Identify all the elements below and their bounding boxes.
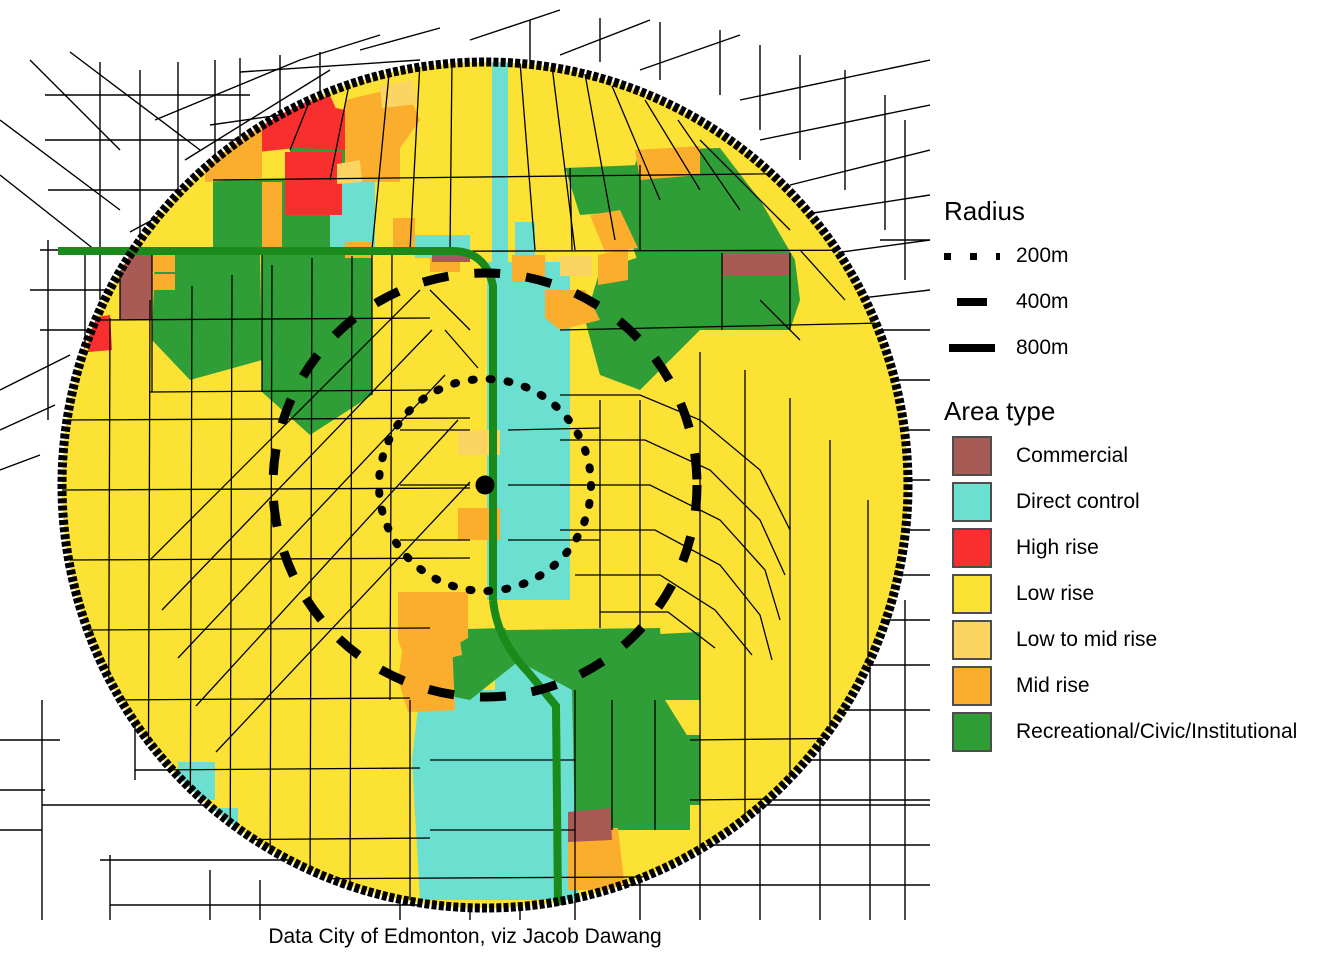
legend-label-mid-rise: Mid rise	[1008, 674, 1090, 698]
zone-direct-control-ne-sliver	[515, 222, 535, 255]
legend-label-direct-control: Direct control	[1008, 490, 1140, 514]
swatch-mid-rise	[952, 666, 992, 706]
radius-legend: Radius 200m 400m 800m	[936, 196, 1069, 371]
radius-key-800m	[936, 328, 1008, 368]
legend-item-mid-rise[interactable]: Mid rise	[936, 663, 1297, 709]
zone-commercial-ne	[722, 253, 790, 275]
swatch-low-to-mid-rise	[952, 620, 992, 660]
swatch-wrap	[936, 482, 1008, 522]
swatch-low-rise	[952, 574, 992, 614]
area-type-legend-title: Area type	[944, 396, 1297, 427]
radius-legend-title: Radius	[944, 196, 1069, 227]
swatch-commercial	[952, 436, 992, 476]
legend-item-400m[interactable]: 400m	[936, 279, 1069, 325]
source-caption: Data City of Edmonton, viz Jacob Dawang	[0, 925, 930, 949]
legend-item-recreational[interactable]: Recreational/Civic/Institutional	[936, 709, 1297, 755]
radius-label-800m: 800m	[1008, 336, 1069, 360]
radius-label-200m: 200m	[1008, 244, 1069, 268]
map-canvas[interactable]	[0, 0, 930, 920]
station-dot[interactable]	[476, 476, 495, 495]
swatch-wrap	[936, 528, 1008, 568]
swatch-wrap	[936, 620, 1008, 660]
swatch-wrap	[936, 436, 1008, 476]
legend-item-low-rise[interactable]: Low rise	[936, 571, 1297, 617]
zone-low-mid-ne	[560, 256, 592, 276]
zoning-map-figure: Zoning around Holyrood LRT station	[0, 0, 1344, 960]
swatch-wrap	[936, 574, 1008, 614]
legend-label-low-to-mid-rise: Low to mid rise	[1008, 628, 1157, 652]
legend-label-high-rise: High rise	[1008, 536, 1099, 560]
zone-recreational-se-block	[660, 632, 700, 700]
area-type-legend: Area type Commercial Direct control	[936, 396, 1297, 755]
radius-label-400m: 400m	[1008, 290, 1069, 314]
legend-item-low-to-mid-rise[interactable]: Low to mid rise	[936, 617, 1297, 663]
swatch-wrap	[936, 712, 1008, 752]
radius-key-200m	[936, 236, 1008, 276]
zone-direct-control-north	[492, 62, 508, 262]
legend-item-commercial[interactable]: Commercial	[936, 433, 1297, 479]
legend-label-commercial: Commercial	[1008, 444, 1128, 468]
legend-label-low-rise: Low rise	[1008, 582, 1094, 606]
radius-key-400m	[936, 282, 1008, 322]
swatch-wrap	[936, 666, 1008, 706]
legend-item-high-rise[interactable]: High rise	[936, 525, 1297, 571]
zone-mid-rise-nw-strip	[262, 182, 282, 252]
zone-low-mid-n	[337, 160, 362, 184]
legend-panel: Radius 200m 400m 800m Area typ	[928, 0, 1344, 920]
zone-recreational-se-block2	[668, 735, 700, 805]
zone-commercial-west	[120, 255, 152, 320]
swatch-high-rise	[952, 528, 992, 568]
legend-item-200m[interactable]: 200m	[936, 233, 1069, 279]
swatch-recreational	[952, 712, 992, 752]
legend-label-recreational: Recreational/Civic/Institutional	[1008, 720, 1297, 744]
map-svg	[0, 0, 930, 920]
legend-item-800m[interactable]: 800m	[936, 325, 1069, 371]
zone-mid-rise-sw3	[398, 640, 455, 712]
swatch-direct-control	[952, 482, 992, 522]
legend-item-direct-control[interactable]: Direct control	[936, 479, 1297, 525]
